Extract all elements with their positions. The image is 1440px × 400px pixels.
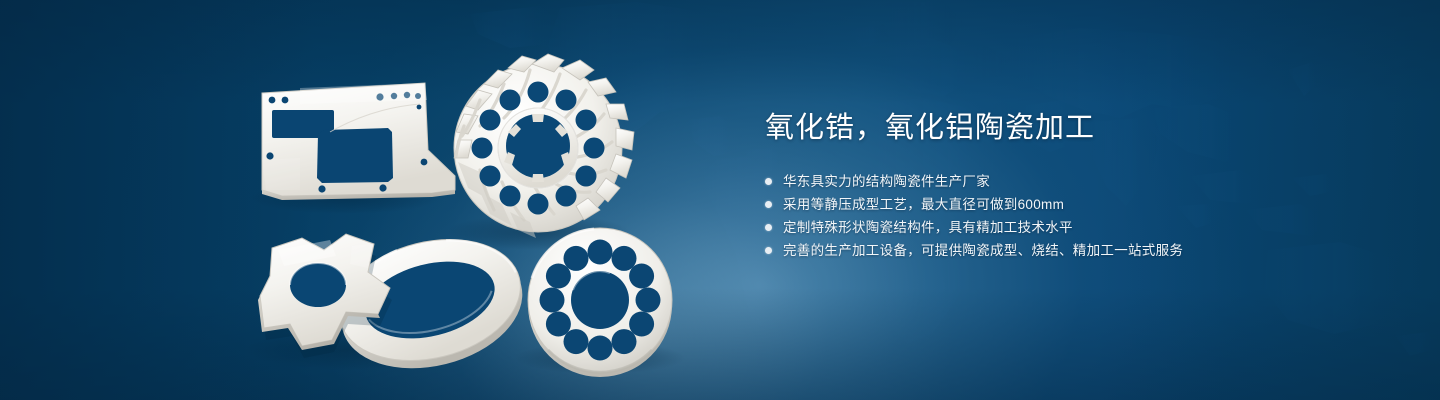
- feature-list: 华东具实力的结构陶瓷件生产厂家 采用等静压成型工艺，最大直径可做到600mm 定…: [765, 170, 1385, 262]
- promo-banner: 氧化锆，氧化铝陶瓷加工 华东具实力的结构陶瓷件生产厂家 采用等静压成型工艺，最大…: [0, 0, 1440, 400]
- ceramic-hole-disc-graphic: [528, 228, 672, 377]
- feature-item: 采用等静压成型工艺，最大直径可做到600mm: [765, 193, 1385, 216]
- bullet-dot-icon: [765, 247, 772, 254]
- bullet-dot-icon: [765, 178, 772, 185]
- ceramic-impeller-graphic: [454, 54, 634, 238]
- feature-item: 完善的生产加工设备，可提供陶瓷成型、烧结、精加工一站式服务: [765, 239, 1385, 262]
- banner-copy: 氧化锆，氧化铝陶瓷加工 华东具实力的结构陶瓷件生产厂家 采用等静压成型工艺，最大…: [765, 108, 1385, 262]
- banner-headline: 氧化锆，氧化铝陶瓷加工: [765, 108, 1385, 148]
- ceramic-products-image: [0, 0, 740, 400]
- ceramic-plate-graphic: [262, 83, 455, 200]
- bullet-dot-icon: [765, 224, 772, 231]
- feature-item: 定制特殊形状陶瓷结构件，具有精加工技术水平: [765, 216, 1385, 239]
- feature-text: 完善的生产加工设备，可提供陶瓷成型、烧结、精加工一站式服务: [783, 239, 1183, 262]
- feature-text: 华东具实力的结构陶瓷件生产厂家: [783, 170, 990, 193]
- feature-item: 华东具实力的结构陶瓷件生产厂家: [765, 170, 1385, 193]
- feature-text: 采用等静压成型工艺，最大直径可做到600mm: [783, 193, 1064, 216]
- bullet-dot-icon: [765, 201, 772, 208]
- feature-text: 定制特殊形状陶瓷结构件，具有精加工技术水平: [783, 216, 1073, 239]
